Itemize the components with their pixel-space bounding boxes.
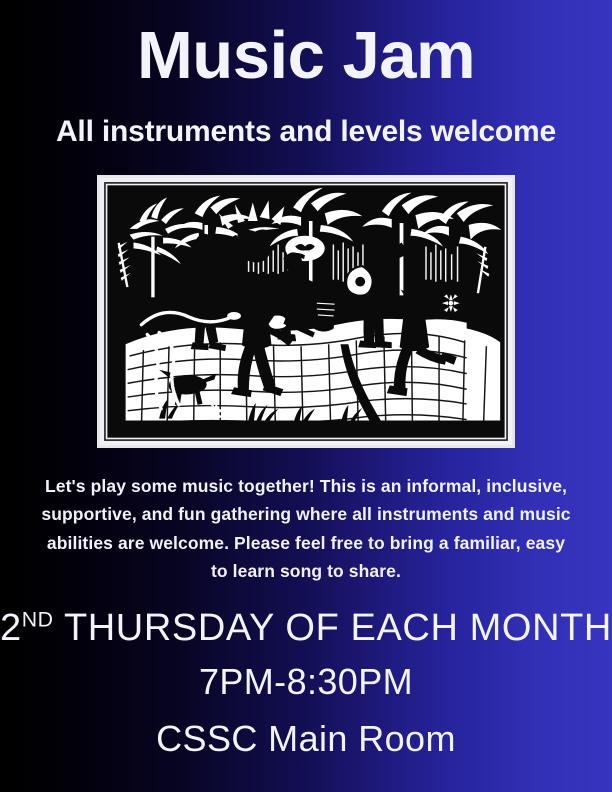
musicians-woodcut-illustration [97, 175, 515, 448]
event-time: 7PM-8:30PM [0, 658, 612, 707]
page-title: Music Jam [137, 22, 475, 89]
poster-subtitle: All instruments and levels welcome [56, 115, 556, 149]
music-jam-poster: Music Jam All instruments and levels wel… [0, 0, 612, 792]
event-day-number: 2 [0, 607, 22, 649]
event-details: 2ND THURSDAY OF EACH MONTH 7PM-8:30PM CS… [0, 607, 612, 763]
event-location: CSSC Main Room [0, 715, 612, 764]
poster-body-text: Let's play some music together! This is … [38, 472, 574, 585]
event-recurrence-line: 2ND THURSDAY OF EACH MONTH [0, 607, 612, 650]
event-recurrence-text: THURSDAY OF EACH MONTH [53, 607, 612, 649]
event-day-ordinal: ND [22, 608, 54, 632]
